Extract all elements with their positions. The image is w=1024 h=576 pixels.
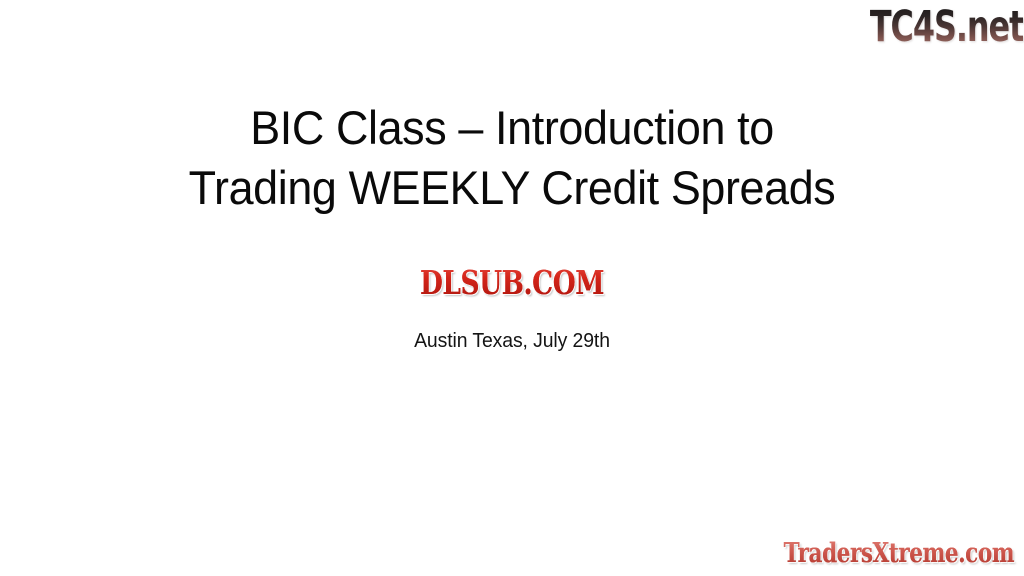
dlsub-watermark: DLSUB.COM DLSUB.COM xyxy=(357,264,667,302)
tradersxtreme-watermark: TradersXtreme.com TradersXtreme.com xyxy=(762,536,1014,570)
slide-title: BIC Class – Introduction to Trading WEEK… xyxy=(0,98,1024,218)
tradersxtreme-watermark-fill: TradersXtreme.com xyxy=(784,538,1015,570)
presentation-slide: TC4S.net TC4S.net BIC Class – Introducti… xyxy=(0,0,1024,576)
slide-subtitle: Austin Texas, July 29th xyxy=(15,328,1008,354)
dlsub-watermark-fill: DLSUB.COM xyxy=(388,264,636,302)
slide-title-line-1: BIC Class – Introduction to xyxy=(23,98,1001,158)
tc4s-watermark: TC4S.net xyxy=(870,4,1023,50)
slide-title-line-2: Trading WEEKLY Credit Spreads xyxy=(23,158,1001,218)
